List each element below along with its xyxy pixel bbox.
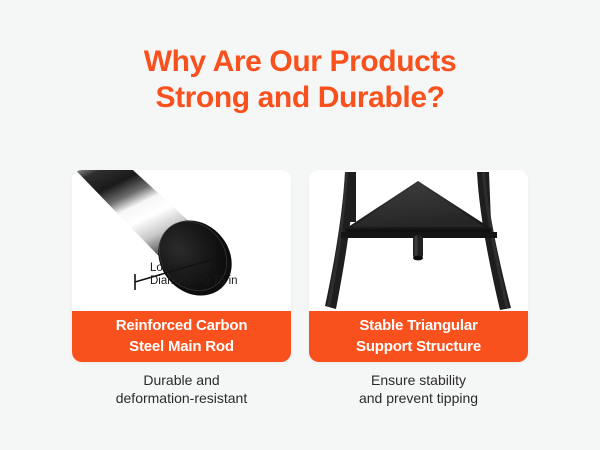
page-title-line-1: Why Are Our Products <box>0 44 600 80</box>
feature-item-carbon-steel-rod: Lower Tube Diameter: 0.75 in Reinforced … <box>72 170 291 407</box>
tripod-illustration-icon <box>309 170 528 311</box>
feature-caption: Ensure stability and prevent tipping <box>309 371 528 407</box>
feature-item-triangular-support: Stable Triangular Support Structure Ensu… <box>309 170 528 407</box>
feature-banner: Reinforced Carbon Steel Main Rod <box>72 311 291 362</box>
triangular-support-structure-image <box>309 170 528 311</box>
feature-caption: Durable and deformation-resistant <box>72 371 291 407</box>
feature-infographic: Why Are Our Products Strong and Durable? <box>0 0 600 450</box>
dimension-annotation-line-1: Lower Tube <box>150 262 238 275</box>
feature-banner-line-1: Reinforced Carbon <box>76 315 287 336</box>
feature-list: Lower Tube Diameter: 0.75 in Reinforced … <box>72 170 528 407</box>
feature-banner-line-2: Support Structure <box>313 336 524 357</box>
feature-banner-line-2: Steel Main Rod <box>76 336 287 357</box>
feature-card: Stable Triangular Support Structure <box>309 170 528 362</box>
page-title-line-2: Strong and Durable? <box>0 80 600 116</box>
feature-banner-line-1: Stable Triangular <box>313 315 524 336</box>
dimension-annotation-line-2: Diameter: 0.75 in <box>150 275 238 288</box>
carbon-steel-rod-image: Lower Tube Diameter: 0.75 in <box>72 170 291 311</box>
feature-caption-line-1: Ensure stability <box>309 371 528 389</box>
feature-card: Lower Tube Diameter: 0.75 in Reinforced … <box>72 170 291 362</box>
feature-caption-line-1: Durable and <box>72 371 291 389</box>
dimension-annotation: Lower Tube Diameter: 0.75 in <box>150 262 238 288</box>
feature-caption-line-2: deformation-resistant <box>72 389 291 407</box>
rod-illustration-icon <box>72 170 291 311</box>
page-title: Why Are Our Products Strong and Durable? <box>0 44 600 116</box>
feature-caption-line-2: and prevent tipping <box>309 389 528 407</box>
feature-banner: Stable Triangular Support Structure <box>309 311 528 362</box>
